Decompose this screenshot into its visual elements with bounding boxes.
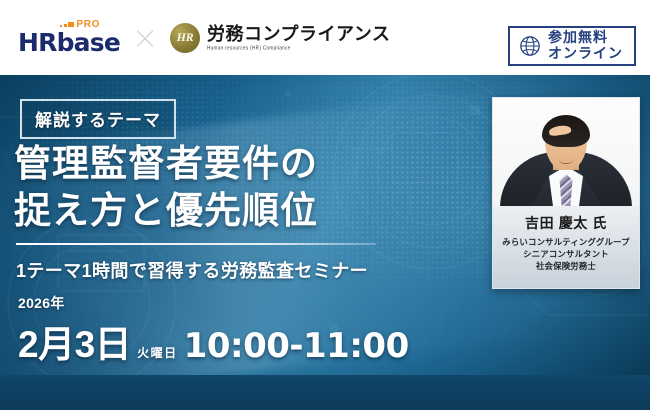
compliance-subtitle: Human resources (HR) Compliance xyxy=(207,46,390,51)
free-badge-line2: オンライン xyxy=(548,46,623,62)
banner-subtitle: 1テーマ1時間で習得する労務監査セミナー xyxy=(16,257,368,283)
three-dots-icon xyxy=(60,22,74,28)
globe-icon xyxy=(519,35,541,57)
portrait-hair xyxy=(542,115,590,147)
speaker-affiliation: みらいコンサルティンググループ シニアコンサルタント 社会保険労務士 xyxy=(493,237,639,273)
speaker-card: 吉田 慶太 氏 みらいコンサルティンググループ シニアコンサルタント 社会保険労… xyxy=(492,97,640,289)
event-year: 2026年 xyxy=(18,293,409,313)
banner-title: 管理監督者要件の 捉え方と優先順位 xyxy=(14,141,318,234)
theme-chip: 解説するテーマ xyxy=(20,99,176,139)
title-divider xyxy=(16,243,376,245)
speaker-name: 吉田 慶太 氏 xyxy=(493,213,639,233)
speaker-org-line-1: みらいコンサルティンググループ xyxy=(493,237,639,249)
header-logos: PRO HRbase HR 労務コンプライアンス Human resources… xyxy=(18,0,390,75)
compliance-title: 労務コンプライアンス xyxy=(207,25,390,43)
roumu-compliance-logo: HR 労務コンプライアンス Human resources (HR) Compl… xyxy=(170,23,390,53)
portrait-eye-left xyxy=(551,141,557,144)
hrbase-wordmark: HRbase xyxy=(18,30,120,55)
free-badge-text-group: 参加無料 オンライン xyxy=(548,30,623,61)
banner-header: PRO HRbase HR 労務コンプライアンス Human resources… xyxy=(0,0,650,75)
compliance-text-group: 労務コンプライアンス Human resources (HR) Complian… xyxy=(207,25,390,51)
title-line-1: 管理監督者要件の xyxy=(14,141,318,188)
event-weekday: 火曜日 xyxy=(137,344,178,364)
portrait-tie xyxy=(560,174,573,206)
free-online-badge: 参加無料 オンライン xyxy=(508,26,636,66)
hrbase-pro-logo: PRO HRbase xyxy=(18,20,120,55)
event-date-row: 2月3日 火曜日 10:00-11:00 xyxy=(18,314,409,368)
cross-separator-icon xyxy=(134,27,156,49)
title-line-2: 捉え方と優先順位 xyxy=(14,188,318,235)
speaker-portrait xyxy=(493,98,639,206)
bottom-bar xyxy=(0,375,650,410)
free-badge-line1: 参加無料 xyxy=(548,30,623,46)
event-day: 2月3日 xyxy=(18,314,131,368)
portrait-eye-right xyxy=(575,141,581,144)
speaker-org-line-2: シニアコンサルタント xyxy=(493,249,639,261)
speaker-org-line-3: 社会保険労務士 xyxy=(493,261,639,273)
event-time: 10:00-11:00 xyxy=(184,326,409,366)
hr-circle-badge-icon: HR xyxy=(170,23,200,53)
event-date-block: 2026年 2月3日 火曜日 10:00-11:00 xyxy=(18,293,409,368)
webinar-banner: PRO HRbase HR 労務コンプライアンス Human resources… xyxy=(0,0,650,410)
